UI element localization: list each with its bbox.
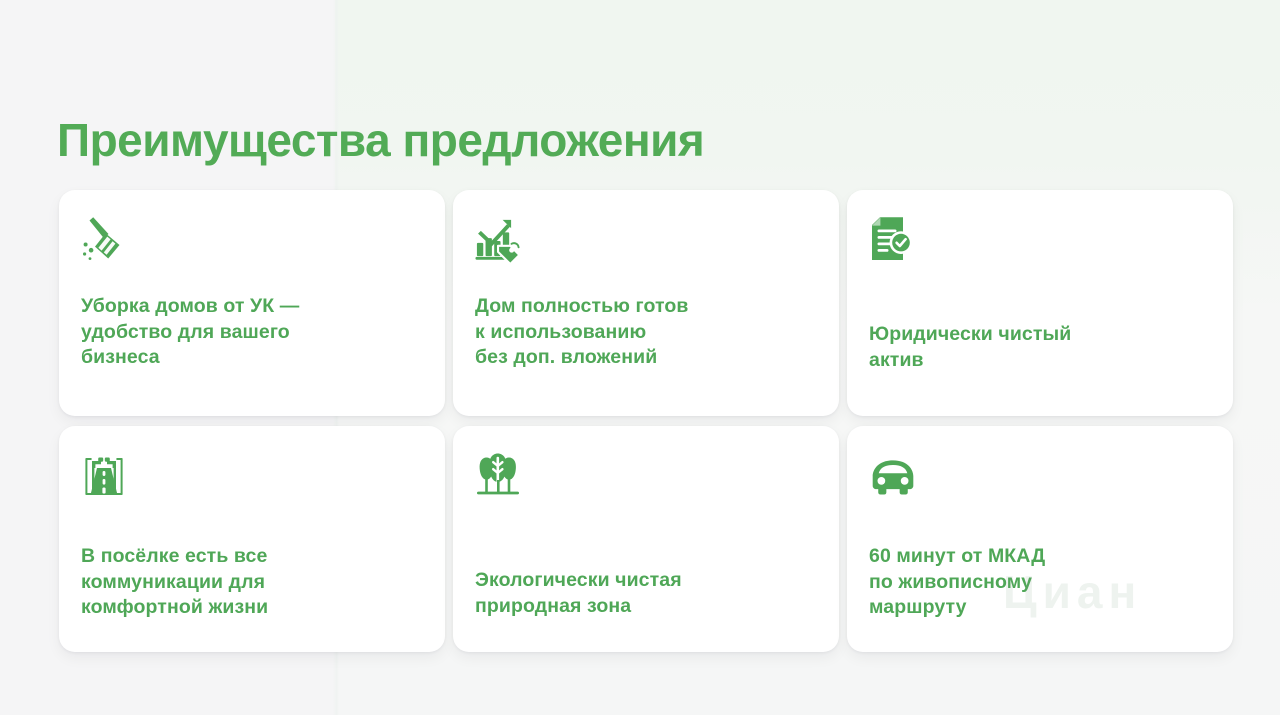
trees-icon	[475, 452, 523, 502]
benefit-card-label: Экологически чистая природная зона	[475, 568, 821, 619]
benefit-card-cleaning[interactable]: Уборка домов от УК — удобство для вашего…	[59, 190, 445, 416]
document-check-icon	[869, 216, 917, 266]
card-content: Дом полностью готов к использованию без …	[475, 216, 821, 394]
benefit-card-legal-clean[interactable]: Юридически чистый актив	[847, 190, 1233, 416]
benefit-card-nature[interactable]: Экологически чистая природная зона	[453, 426, 839, 652]
slide-root: Преимущества предложения	[0, 0, 1280, 715]
benefits-grid: Уборка домов от УК — удобство для вашего…	[59, 190, 1233, 652]
benefit-card-label: Уборка домов от УК — удобство для вашего…	[81, 294, 427, 371]
growth-chart-price-tag-icon	[475, 216, 523, 266]
card-content: В посёлке есть все коммуникации для комф…	[81, 452, 427, 630]
benefit-card-label: Юридически чистый актив	[869, 322, 1215, 373]
benefit-card-label: Дом полностью готов к использованию без …	[475, 294, 821, 371]
car-icon	[869, 456, 917, 506]
broom-icon	[81, 216, 129, 266]
card-content: Юридически чистый актив	[869, 216, 1215, 394]
benefit-card-ready-house[interactable]: Дом полностью готов к использованию без …	[453, 190, 839, 416]
card-content: Уборка домов от УК — удобство для вашего…	[81, 216, 427, 394]
benefit-card-label: В посёлке есть все коммуникации для комф…	[81, 544, 427, 621]
benefit-card-utilities[interactable]: В посёлке есть все коммуникации для комф…	[59, 426, 445, 652]
road-streetlights-icon	[81, 452, 129, 502]
benefit-card-label: 60 минут от МКАД по живописному маршруту	[869, 544, 1215, 621]
card-content: Экологически чистая природная зона	[475, 452, 821, 630]
page-title: Преимущества предложения	[57, 115, 704, 166]
card-content: 60 минут от МКАД по живописному маршруту	[869, 452, 1215, 630]
benefit-card-distance[interactable]: 60 минут от МКАД по живописному маршруту	[847, 426, 1233, 652]
